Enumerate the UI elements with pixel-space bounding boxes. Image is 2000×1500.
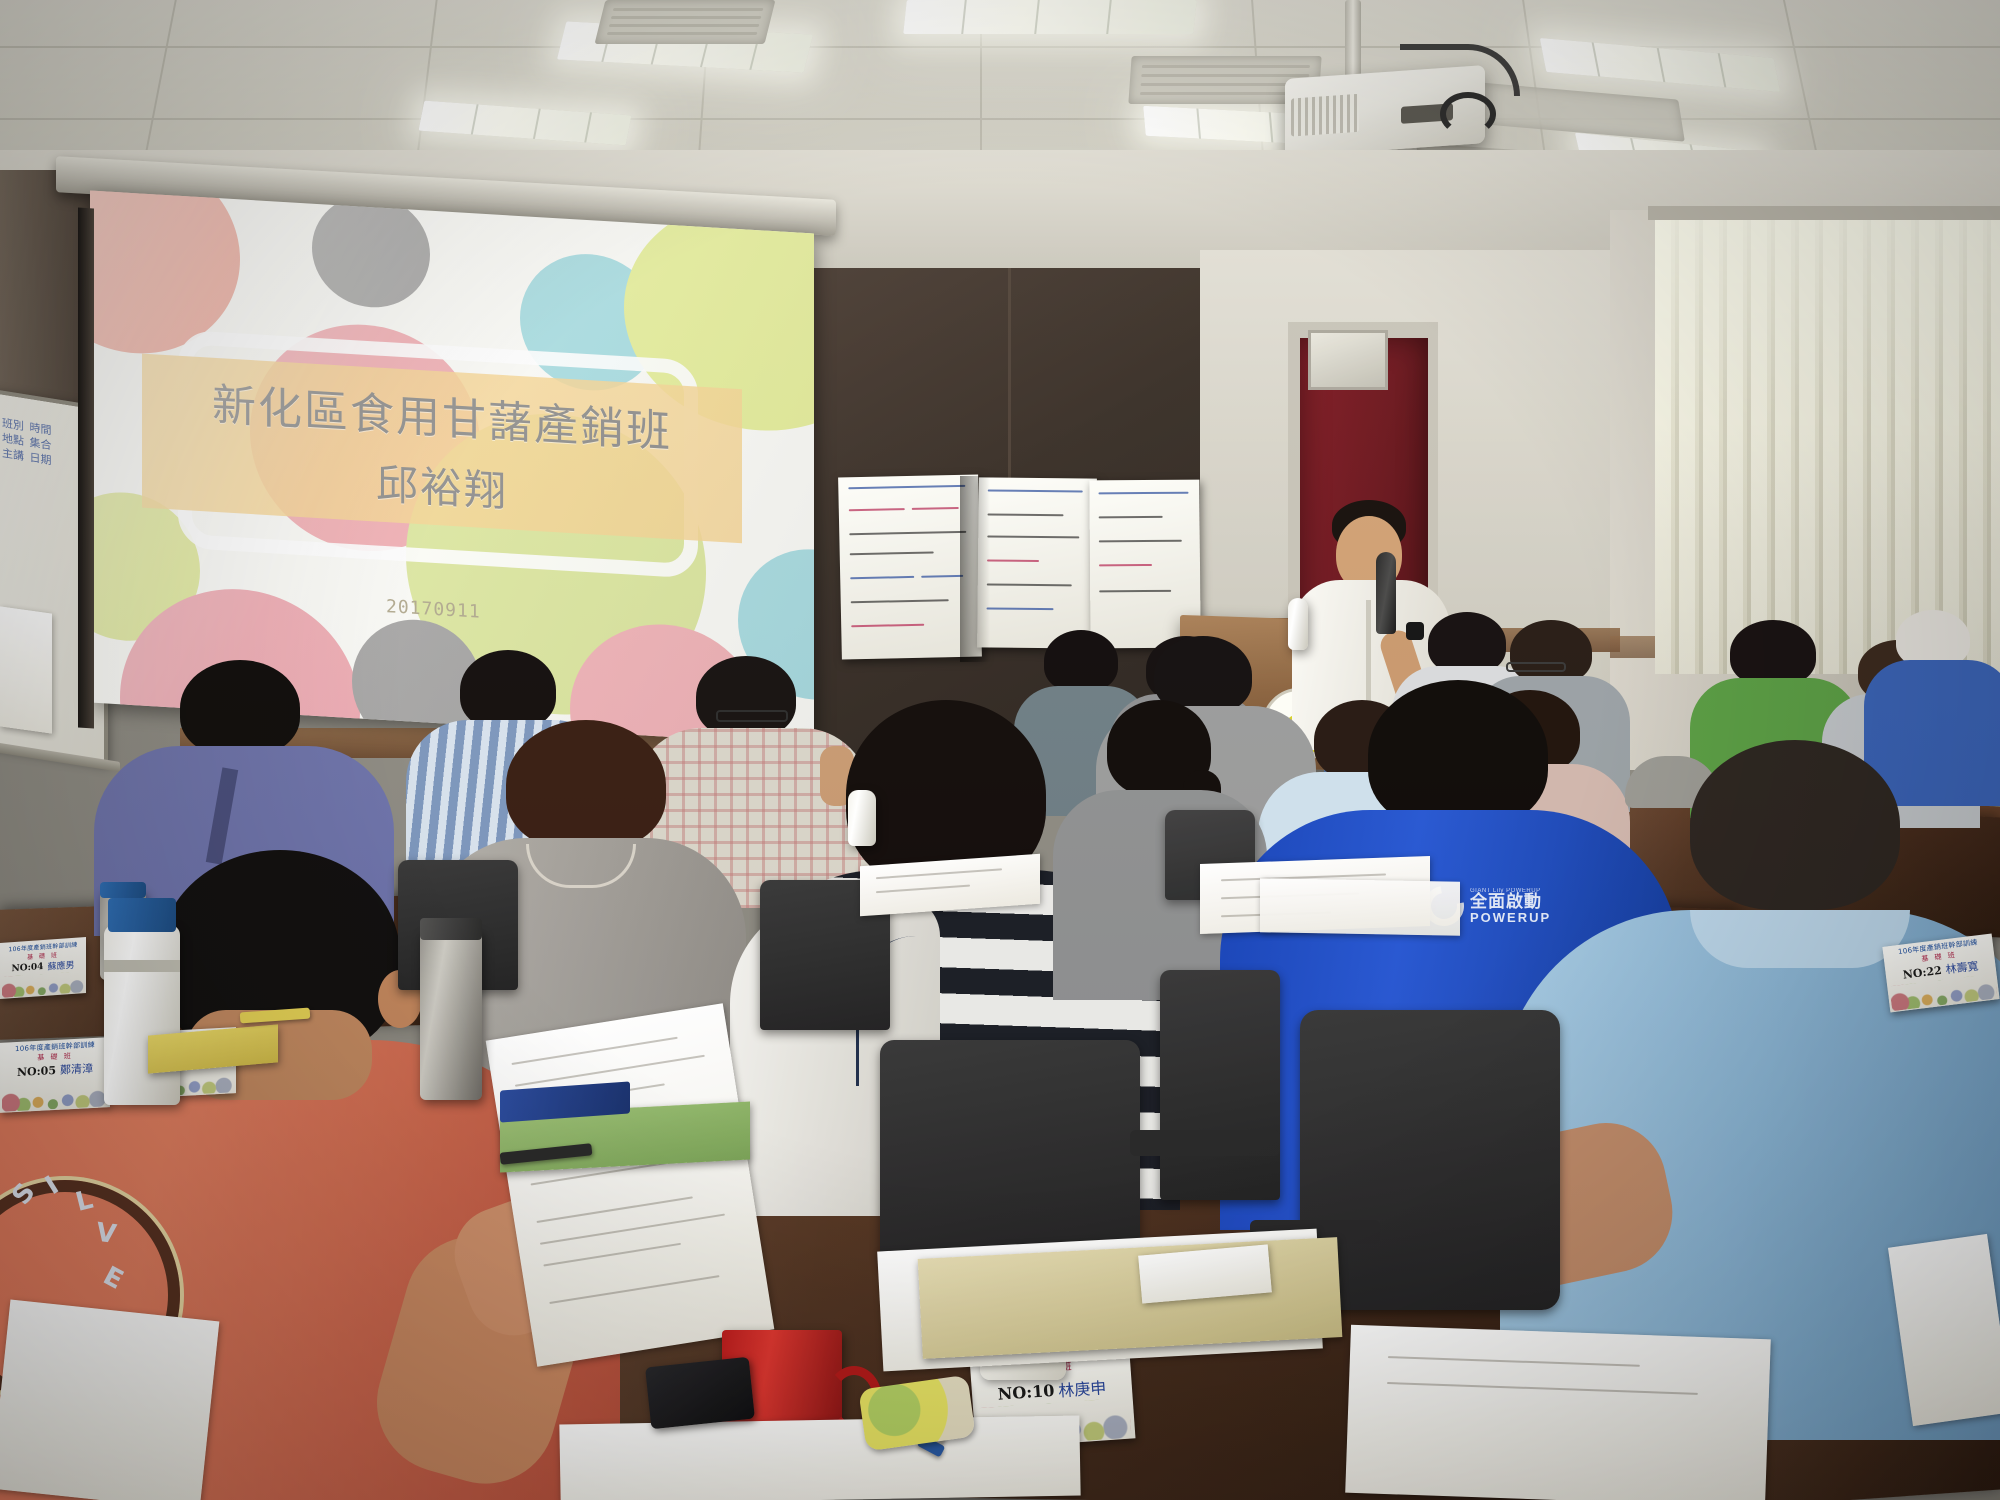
vacuum-flask-tall	[420, 930, 482, 1100]
name-card-name: 鄭清漳	[60, 1060, 93, 1078]
document-foreground	[1345, 1325, 1771, 1500]
thermos-bottle	[104, 925, 180, 1105]
attendee-hair	[506, 720, 666, 850]
attendee-hair	[180, 660, 300, 756]
window-daylight-glow	[1655, 214, 2000, 674]
attendee-hair	[1690, 740, 1900, 910]
handout-held	[486, 1003, 775, 1366]
projector-vent-grille	[1291, 94, 1359, 136]
name-card-number: NO:22	[1902, 963, 1942, 981]
door-window	[1308, 330, 1388, 390]
projector-cable-loop	[1440, 92, 1496, 136]
flask-cap	[100, 882, 146, 898]
name-card-number: NO:10	[997, 1380, 1055, 1403]
flipchart-overlap-shadow	[960, 476, 990, 662]
document-on-table	[1260, 878, 1460, 935]
silver-letter: V	[94, 1218, 121, 1251]
chair	[1160, 970, 1280, 1200]
document-foreground	[559, 1415, 1080, 1500]
polo-collar	[1690, 910, 1910, 968]
silver-letter: E	[99, 1261, 131, 1297]
screen-left-edge-shadow	[78, 208, 94, 729]
window	[1655, 214, 2000, 674]
attendee-hair	[1368, 680, 1548, 830]
bottle-cap	[108, 898, 176, 932]
name-card-number: NO:05	[17, 1063, 56, 1078]
name-card-name: 蘇應男	[47, 958, 74, 973]
name-card-number: NO:04	[12, 961, 44, 973]
slide-title-line2: 邱裕翔	[376, 450, 508, 519]
attendee-hair	[460, 650, 556, 730]
name-card: 106年度產銷班幹部訓練 基 礎 班 NO:04 蘇應男	[0, 937, 86, 999]
bottle-band	[104, 960, 180, 972]
whiteboard-notes: 班別 時間 地點 集合 主講 日期	[2, 417, 52, 469]
name-card-name: 林庚申	[1057, 1374, 1107, 1401]
name-card: 106年度產銷班幹部訓練 基 礎 班 NO:22 林壽寬	[1882, 934, 1999, 1013]
ceiling-light	[903, 0, 1197, 34]
name-card-name: 林壽寬	[1945, 957, 1980, 977]
document-left-foreground	[0, 1300, 219, 1500]
wall-poster	[0, 606, 52, 733]
microphone	[1376, 552, 1396, 634]
ceiling-vent	[595, 0, 776, 44]
flipchart-sheet	[977, 477, 1097, 648]
chair-armrest	[1130, 1130, 1280, 1156]
water-bottle-table	[848, 790, 876, 846]
window-frame-top	[1648, 206, 2000, 220]
classroom-photo-scene: 班別 時間 地點 集合 主講 日期 新化區食用甘藷產銷班 邱裕翔	[0, 0, 2000, 1500]
eyeglasses	[1506, 662, 1566, 672]
chair	[1300, 1010, 1560, 1310]
vegetable-illustration	[2, 971, 85, 998]
chair	[880, 1040, 1140, 1270]
slide-title-line1: 新化區食用甘藷產銷班	[212, 368, 672, 459]
powerup-tiny-text: GIANT Lily POWERUP	[1470, 888, 1551, 894]
smartphone	[645, 1357, 755, 1430]
slide-blob	[312, 192, 430, 311]
attendee-hair	[1730, 620, 1816, 686]
silver-letter: L	[72, 1184, 98, 1218]
attendee-hair	[1510, 620, 1592, 684]
name-card: 106年度產銷班幹部訓練 基 礎 班 NO:05 鄭清漳	[0, 1037, 110, 1113]
flask-cap	[420, 918, 482, 940]
powerup-english-text: POWERUP	[1470, 911, 1551, 924]
vegetable-illustration	[2, 1080, 108, 1112]
slide-date: 20170911	[386, 596, 481, 623]
powerup-chinese-text: 全面啟動	[1470, 894, 1551, 911]
projector-mount-pole	[1345, 0, 1361, 78]
attendee-hair	[1044, 630, 1118, 692]
